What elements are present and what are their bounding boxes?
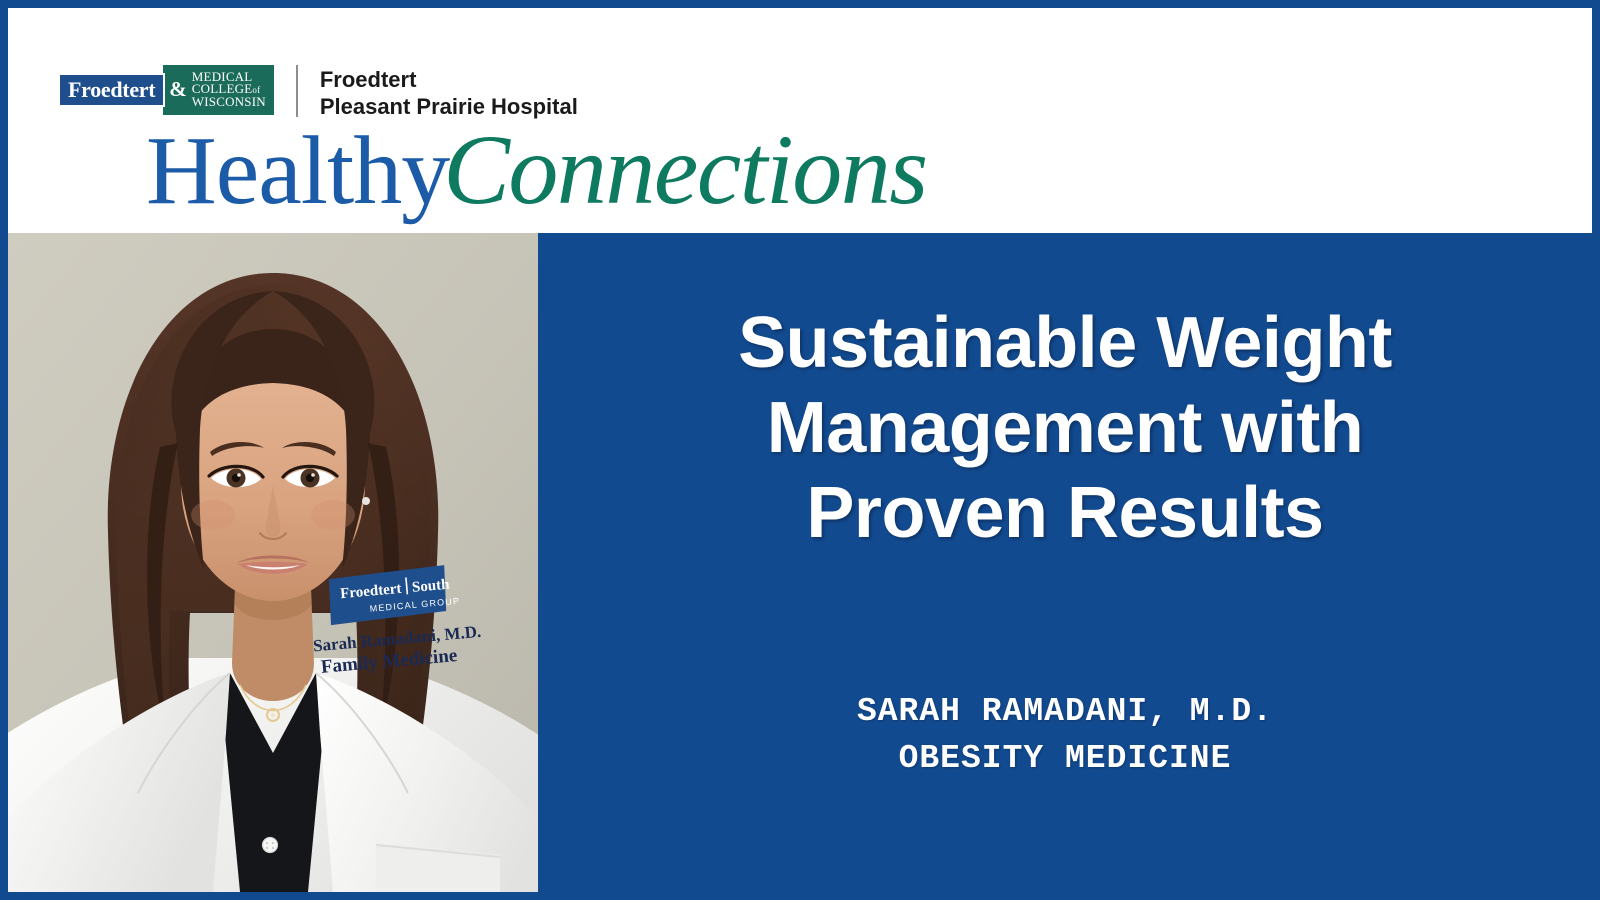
hospital-name-line1: Froedtert xyxy=(320,67,578,94)
slide-title-line3: Proven Results xyxy=(558,471,1572,556)
slide-header: Froedtert & MEDICAL COLLEGEof WISCONSIN … xyxy=(8,8,1592,233)
froedtert-wordmark: Froedtert xyxy=(68,79,155,101)
healthy-connections-wordmark: HealthyConnections xyxy=(146,120,927,220)
hospital-name: Froedtert Pleasant Prairie Hospital xyxy=(320,65,578,121)
mcw-wordmark: MEDICAL COLLEGEof WISCONSIN xyxy=(192,71,266,108)
presenter-name: SARAH RAMADANI, M.D. xyxy=(558,689,1572,736)
slide-title-line1: Sustainable Weight xyxy=(558,301,1572,386)
mcw-logo-box: & MEDICAL COLLEGEof WISCONSIN xyxy=(163,65,274,115)
froedtert-mcw-logo: Froedtert & MEDICAL COLLEGEof WISCONSIN xyxy=(58,65,274,115)
svg-text:South: South xyxy=(411,577,450,596)
slide: Froedtert & MEDICAL COLLEGEof WISCONSIN … xyxy=(0,0,1600,900)
presenter-specialty: OBESITY MEDICINE xyxy=(558,736,1572,783)
logo-divider xyxy=(296,65,298,117)
slide-title-line2: Management with xyxy=(558,386,1572,471)
ampersand-glyph: & xyxy=(169,79,187,100)
mcw-line-wisconsin: WISCONSIN xyxy=(192,96,266,108)
brand-lockup: Froedtert & MEDICAL COLLEGEof WISCONSIN … xyxy=(58,65,578,121)
presenter-photo: Froedtert South MEDICAL GROUP Sarah Rama… xyxy=(8,233,538,892)
slide-body: Froedtert South MEDICAL GROUP Sarah Rama… xyxy=(8,233,1592,892)
wordmark-connections: Connections xyxy=(443,114,926,225)
slide-title: Sustainable Weight Management with Prove… xyxy=(558,301,1572,556)
froedtert-logo-box: Froedtert xyxy=(58,73,165,107)
presenter-credit: SARAH RAMADANI, M.D. OBESITY MEDICINE xyxy=(558,689,1572,783)
presenter-photo-illustration: Froedtert South MEDICAL GROUP Sarah Rama… xyxy=(8,233,538,892)
wordmark-healthy: Healthy xyxy=(146,117,449,225)
slide-content: Sustainable Weight Management with Prove… xyxy=(538,233,1592,892)
